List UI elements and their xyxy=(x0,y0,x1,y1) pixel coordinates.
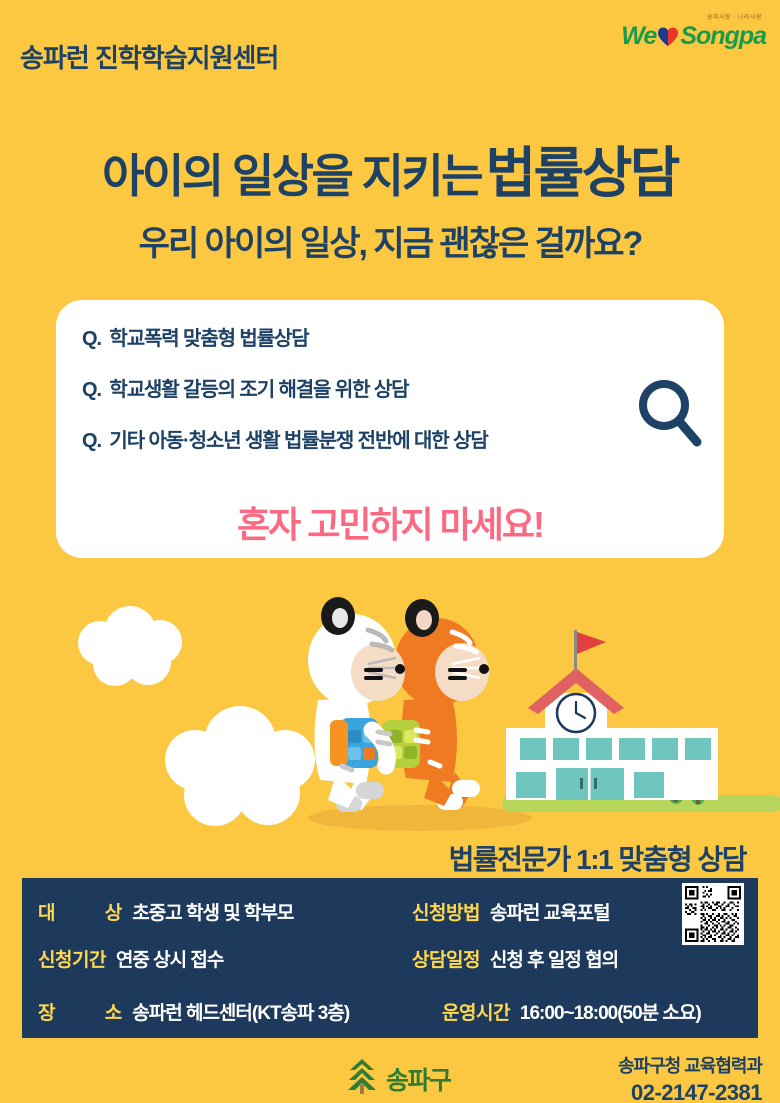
songpa-gu-text: 송파구 xyxy=(386,1061,451,1097)
question-marker: Q. xyxy=(82,379,101,401)
clock-icon xyxy=(557,694,595,732)
question-marker: Q. xyxy=(82,430,101,452)
question-marker: Q. xyxy=(82,328,101,350)
heart-icon xyxy=(657,27,679,47)
table-row: 장 소 송파런 헤드센터(KT송파 3층) 운영시간 16:00~18:00(5… xyxy=(22,988,758,1034)
tiger-mascot-orange xyxy=(382,599,489,810)
main-title: 아이의 일상을 지키는 법률상담 xyxy=(0,128,780,208)
info-label: 신청방법 xyxy=(412,898,480,925)
info-value: 송파런 헤드센터(KT송파 3층) xyxy=(132,998,349,1025)
questions-card: Q. 학교폭력 맞춤형 법률상담 Q. 학교생활 갈등의 조기 해결을 위한 상… xyxy=(56,300,724,558)
poster-root: 송파런 진학학습지원센터 송파사랑 · 나라사랑 We Songpa 아이의 일… xyxy=(0,0,780,1103)
logo-songpa-text: Songpa xyxy=(680,22,766,51)
info-value: 신청 후 일정 협의 xyxy=(490,945,618,972)
page-title: 송파런 진학학습지원센터 xyxy=(20,38,278,75)
main-title-light: 아이의 일상을 지키는 xyxy=(102,150,481,202)
info-label: 대 상 xyxy=(38,898,144,925)
cloud-shape xyxy=(78,606,182,686)
info-label: 운영시간 xyxy=(442,998,510,1025)
info-cell-target: 대 상 초중고 학생 및 학부모 xyxy=(38,898,293,925)
songpa-gu-logo: 송파구 xyxy=(345,1057,451,1100)
call-to-action-text: 혼자 고민하지 마세요! xyxy=(56,496,724,548)
info-value: 초중고 학생 및 학부모 xyxy=(132,898,293,925)
info-cell-location: 장 소 송파런 헤드센터(KT송파 3층) xyxy=(38,998,349,1025)
info-value: 16:00~18:00(50분 소요) xyxy=(520,998,701,1025)
department-name: 송파구청 교육협력과 xyxy=(618,1052,762,1078)
school-building xyxy=(506,630,718,800)
question-text: 학교생활 갈등의 조기 해결을 위한 상담 xyxy=(109,379,408,401)
tiger-mascot-white xyxy=(308,597,405,812)
pine-tree-icon xyxy=(345,1057,379,1100)
question-text: 기타 아동·청소년 생활 법률분쟁 전반에 대한 상담 xyxy=(109,430,487,452)
flag-icon xyxy=(577,632,606,654)
qr-code-icon[interactable] xyxy=(682,883,744,945)
illustration-tagline: 법률전문가 1:1 맞춤형 상담 xyxy=(449,838,746,878)
question-text: 학교폭력 맞춤형 법률상담 xyxy=(109,328,308,350)
search-icon xyxy=(634,378,704,455)
brand-micro-text: 송파사랑 · 나라사랑 xyxy=(707,12,762,21)
logo-we-text: We xyxy=(621,22,656,51)
table-row: 대 상 초중고 학생 및 학부모 신청방법 송파런 교육포털 xyxy=(22,888,758,934)
info-cell-apply-period: 신청기간 연중 상시 접수 xyxy=(38,945,223,972)
info-label: 장 소 xyxy=(38,998,144,1025)
footer-contact: 송파구청 교육협력과 02-2147-2381 xyxy=(618,1052,762,1103)
info-cell-apply-method: 신청방법 송파런 교육포털 xyxy=(412,898,610,925)
phone-number[interactable]: 02-2147-2381 xyxy=(618,1080,762,1103)
info-panel: 대 상 초중고 학생 및 학부모 신청방법 송파런 교육포털 신청기간 연중 상… xyxy=(22,878,758,1038)
info-label: 신청기간 xyxy=(38,945,106,972)
info-value: 송파런 교육포털 xyxy=(490,898,610,925)
info-cell-hours: 운영시간 16:00~18:00(50분 소요) xyxy=(442,998,701,1025)
we-songpa-logo: We Songpa xyxy=(621,22,766,51)
info-cell-schedule: 상담일정 신청 후 일정 협의 xyxy=(412,945,618,972)
subtitle: 우리 아이의 일상, 지금 괜찮은 걸까요? xyxy=(0,216,780,265)
table-row: 신청기간 연중 상시 접수 상담일정 신청 후 일정 협의 xyxy=(22,935,758,981)
list-item: Q. 학교폭력 맞춤형 법률상담 xyxy=(82,322,488,351)
list-item: Q. 기타 아동·청소년 생활 법률분쟁 전반에 대한 상담 xyxy=(82,424,488,453)
main-title-strong: 법률상담 xyxy=(486,142,678,204)
list-item: Q. 학교생활 갈등의 조기 해결을 위한 상담 xyxy=(82,373,488,402)
flag-pole xyxy=(574,630,577,670)
illustration xyxy=(0,580,780,850)
info-label: 상담일정 xyxy=(412,945,480,972)
cloud-shape xyxy=(165,706,315,826)
question-list: Q. 학교폭력 맞춤형 법률상담 Q. 학교생활 갈등의 조기 해결을 위한 상… xyxy=(82,322,488,475)
info-value: 연중 상시 접수 xyxy=(116,945,223,972)
